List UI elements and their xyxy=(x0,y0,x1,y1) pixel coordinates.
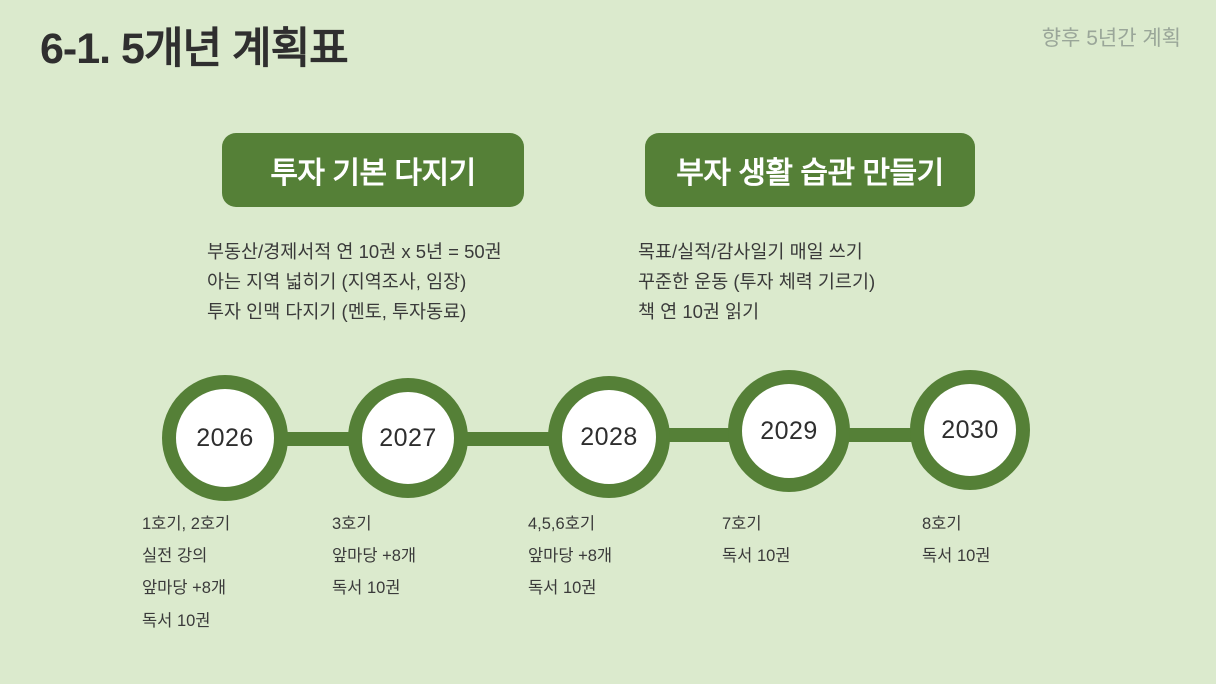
timeline-year-label: 2027 xyxy=(379,424,437,453)
timeline-caption-line: 독서 10권 xyxy=(332,572,416,604)
timeline-caption-line: 앞마당 +8개 xyxy=(528,540,612,572)
theme-note-line: 목표/실적/감사일기 매일 쓰기 xyxy=(638,237,975,267)
timeline-caption-line: 8호기 xyxy=(922,508,990,540)
timeline-caption-line: 4,5,6호기 xyxy=(528,508,612,540)
timeline-caption-line: 독서 10권 xyxy=(142,605,230,637)
theme-note-line: 아는 지역 넓히기 (지역조사, 임장) xyxy=(207,267,524,297)
timeline-caption-line: 3호기 xyxy=(332,508,416,540)
timeline-caption-line: 독서 10권 xyxy=(922,540,990,572)
timeline-year-label: 2026 xyxy=(196,424,254,453)
timeline-caption-2030: 8호기 독서 10권 xyxy=(922,508,990,572)
theme-notes-rich-habits: 목표/실적/감사일기 매일 쓰기 꾸준한 운동 (투자 체력 기르기) 책 연 … xyxy=(638,237,975,327)
timeline-caption-line: 앞마당 +8개 xyxy=(142,572,230,604)
page-subtitle: 향후 5년간 계획 xyxy=(1042,22,1181,52)
timeline-caption-2027: 3호기 앞마당 +8개 독서 10권 xyxy=(332,508,416,605)
timeline-circle-2029: 2029 xyxy=(728,370,850,492)
timeline-caption-line: 1호기, 2호기 xyxy=(142,508,230,540)
theme-badge-investment-basics: 투자 기본 다지기 xyxy=(222,133,524,207)
timeline-caption-line: 독서 10권 xyxy=(722,540,790,572)
theme-column-rich-habits: 부자 생활 습관 만들기 목표/실적/감사일기 매일 쓰기 꾸준한 운동 (투자… xyxy=(645,133,975,327)
theme-note-line: 꾸준한 운동 (투자 체력 기르기) xyxy=(638,267,975,297)
timeline-caption-line: 앞마당 +8개 xyxy=(332,540,416,572)
theme-note-line: 부동산/경제서적 연 10권 x 5년 = 50권 xyxy=(207,237,524,267)
timeline-caption-2028: 4,5,6호기 앞마당 +8개 독서 10권 xyxy=(528,508,612,605)
timeline-year-label: 2028 xyxy=(580,423,638,452)
timeline-year-label: 2029 xyxy=(760,417,818,446)
timeline-caption-2029: 7호기 독서 10권 xyxy=(722,508,790,572)
slide-canvas: 6-1. 5개년 계획표 향후 5년간 계획 투자 기본 다지기 부동산/경제서… xyxy=(0,0,1216,684)
timeline-circle-2027: 2027 xyxy=(348,378,468,498)
timeline-caption-line: 실전 강의 xyxy=(142,540,230,572)
timeline-caption-2026: 1호기, 2호기 실전 강의 앞마당 +8개 독서 10권 xyxy=(142,508,230,637)
timeline: 2026 1호기, 2호기 실전 강의 앞마당 +8개 독서 10권 2027 … xyxy=(0,370,1216,660)
theme-column-investment-basics: 투자 기본 다지기 부동산/경제서적 연 10권 x 5년 = 50권 아는 지… xyxy=(222,133,524,327)
theme-badge-rich-habits: 부자 생활 습관 만들기 xyxy=(645,133,975,207)
theme-note-line: 투자 인맥 다지기 (멘토, 투자동료) xyxy=(207,297,524,327)
theme-note-line: 책 연 10권 읽기 xyxy=(638,297,975,327)
timeline-caption-line: 독서 10권 xyxy=(528,572,612,604)
theme-notes-investment-basics: 부동산/경제서적 연 10권 x 5년 = 50권 아는 지역 넓히기 (지역조… xyxy=(207,237,524,327)
timeline-circle-2030: 2030 xyxy=(910,370,1030,490)
timeline-circle-2028: 2028 xyxy=(548,376,670,498)
timeline-circle-2026: 2026 xyxy=(162,375,288,501)
page-title: 6-1. 5개년 계획표 xyxy=(40,14,348,76)
timeline-year-label: 2030 xyxy=(941,416,999,445)
timeline-caption-line: 7호기 xyxy=(722,508,790,540)
